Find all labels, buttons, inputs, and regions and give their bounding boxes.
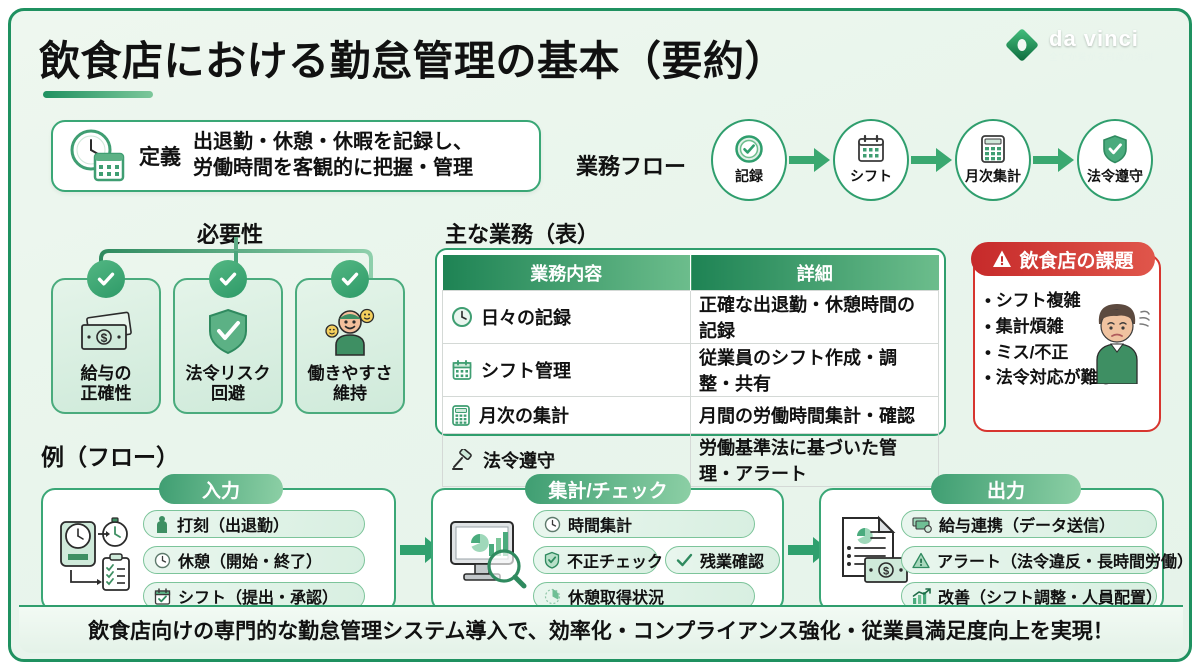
definition-label: 定義 [139,141,181,171]
table-cell-detail: 正確な出退勤・休憩時間の記録 [691,291,939,344]
stage-item[interactable]: 時間集計 [533,510,755,538]
person-icon [154,515,170,533]
table-row: 法令遵守 労働基準法に基づいた管理・アラート [443,434,939,487]
main-table-wrapper: 業務内容 詳細 日々の記録 [435,248,946,436]
clock-icon [451,306,473,328]
monitor-chart-magnifier-icon [447,514,521,590]
issues-box: 飲食店の課題 シフト複雑 集計煩雑 ミス/不正 法令対応が難しい [973,254,1161,432]
stage-item-label: 残業確認 [700,548,764,572]
stage-item-label: 不正チェック [567,548,663,572]
issues-header: 飲食店の課題 [971,242,1155,276]
stage-item[interactable]: アラート（法令違反・長時間労働） [901,546,1157,574]
necessity-card-label: 正確性 [81,384,132,404]
check-badge-icon [209,260,247,298]
definition-card: 定義 出退勤・休憩・休暇を記録し、 労働時間を客観的に把握・管理 [51,120,541,192]
table-row: シフト管理 従業員のシフト作成・調整・共有 [443,344,939,397]
table-cell-task: 月次の集計 [479,402,569,428]
stage-item[interactable]: 打刻（出退勤） [143,510,365,538]
flow-node-label: 月次集計 [965,166,1021,186]
flow-arrow-2-icon [909,147,955,173]
shield-check-icon [1101,134,1129,164]
check-badge-icon [331,260,369,298]
stage-badge: 出力 [931,474,1081,504]
necessity-card-label: 維持 [308,384,393,404]
flow-node-monthly[interactable]: 月次集計 [955,119,1031,201]
title-underline [43,91,153,98]
logo-name: da vinci [1049,28,1154,50]
flow-node-label: シフト [850,166,892,186]
stage-item-label: 時間集計 [568,512,632,536]
business-flow-row: 記録 シフト [711,119,1153,201]
footer-text: 飲食店向けの専門的な勤怠管理システム導入で、効率化・コンプライアンス強化・従業員… [88,615,1114,645]
table-row: 日々の記録 正確な出退勤・休憩時間の記録 [443,291,939,344]
main-table-title: 主な業務（表） [445,217,599,249]
flow-node-label: 記録 [735,166,763,186]
svg-text:$: $ [101,331,108,345]
report-money-icon: $ [835,514,909,590]
example-flow-title: 例（フロー） [41,438,179,472]
footer-bar: 飲食店向けの専門的な勤怠管理システム導入で、効率化・コンプライアンス強化・従業員… [19,605,1183,653]
stage-input: 入力 [41,488,396,612]
stage-item-label: 打刻（出退勤） [177,512,289,536]
stage-item[interactable]: 不正チェック [533,546,658,574]
necessity-cards: $ 給与の 正確性 法令リスク 回避 [51,278,405,414]
warning-icon [992,249,1012,269]
calculator-icon [451,404,471,426]
check-circle-icon [734,134,764,164]
necessity-card-label: 回避 [186,384,271,404]
page-title: 飲食店における勤怠管理の基本（要約） [39,27,786,87]
worried-person-icon [1083,298,1153,384]
necessity-card-workability[interactable]: 働きやすさ 維持 [295,278,405,414]
pie-clock-icon [544,588,561,605]
check-icon [676,553,693,567]
flow-node-compliance[interactable]: 法令遵守 [1077,119,1153,201]
stage-item[interactable]: 休憩（開始・終了） [143,546,365,574]
stage-item-label: 給与連携（データ送信） [939,512,1115,536]
logo-tagline: 全てが繋がる飛躍の法則 [1049,53,1154,62]
stage-item[interactable]: 残業確認 [665,546,780,574]
money-icon: $ [76,306,136,358]
definition-line-2: 労働時間を客観的に把握・管理 [193,156,473,182]
infographic-poster: 飲食店における勤怠管理の基本（要約） da vinci 全てが繋がる飛躍の法則 [8,8,1192,662]
stage-item[interactable]: 給与連携（データ送信） [901,510,1157,538]
issues-title: 飲食店の課題 [1019,246,1133,273]
brand-logo: da vinci 全てが繋がる飛躍の法則 [1003,19,1173,71]
shield-check-icon [205,306,251,358]
table-column-header: 詳細 [691,255,939,291]
stage-badge: 入力 [159,474,283,504]
stage-badge: 集計/チェック [525,474,691,504]
gavel-icon [451,449,475,471]
necessity-card-label: 給与の [81,364,132,384]
table-cell-detail: 月間の労働時間集計・確認 [691,397,939,434]
stage-aggregate: 集計/チェック 時間集計 [431,488,784,612]
payroll-icon [912,516,932,533]
table-row: 月次の集計 月間の労働時間集計・確認 [443,397,939,434]
necessity-card-label: 法令リスク [186,364,271,384]
table-cell-detail: 従業員のシフト作成・調整・共有 [691,344,939,397]
calendar-icon [856,134,886,164]
shield-check-icon [544,551,560,569]
trend-up-icon [912,588,931,605]
definition-line-1: 出退勤・休憩・休暇を記録し、 [193,130,473,156]
main-table: 業務内容 詳細 日々の記録 [442,255,939,487]
table-column-header: 業務内容 [443,255,691,291]
necessity-card-payroll[interactable]: $ 給与の 正確性 [51,278,161,414]
stage-output: 出力 $ [819,488,1164,612]
business-flow-label: 業務フロー [576,149,686,181]
table-cell-task: 日々の記録 [481,304,571,330]
flow-node-record[interactable]: 記録 [711,119,787,201]
svg-text:$: $ [883,566,889,578]
clock-icon [544,516,561,533]
necessity-card-compliance[interactable]: 法令リスク 回避 [173,278,283,414]
time-clock-clipboard-icon [57,514,131,590]
flow-node-label: 法令遵守 [1087,166,1143,186]
necessity-card-label: 働きやすさ [308,364,393,384]
check-badge-icon [87,260,125,298]
stage-item-label: 休憩（開始・終了） [178,548,322,572]
flow-node-shift[interactable]: シフト [833,119,909,201]
table-cell-detail: 労働基準法に基づいた管理・アラート [691,434,939,487]
flow-arrow-1-icon [787,147,833,173]
warning-icon [912,552,930,569]
calendar-check-icon [154,588,171,605]
clock-icon [154,552,171,569]
calculator-icon [980,134,1006,164]
table-cell-task: 法令遵守 [483,447,555,473]
table-cell-task: シフト管理 [481,357,571,383]
flow-arrow-3-icon [1031,147,1077,173]
stage-item-label: アラート（法令違反・長時間労働） [937,548,1192,572]
table-header-row: 業務内容 詳細 [443,255,939,291]
happy-person-icon [320,306,380,358]
calendar-icon [451,359,473,381]
davinci-diamond-icon [1003,26,1041,64]
clock-calendar-icon [67,128,127,184]
